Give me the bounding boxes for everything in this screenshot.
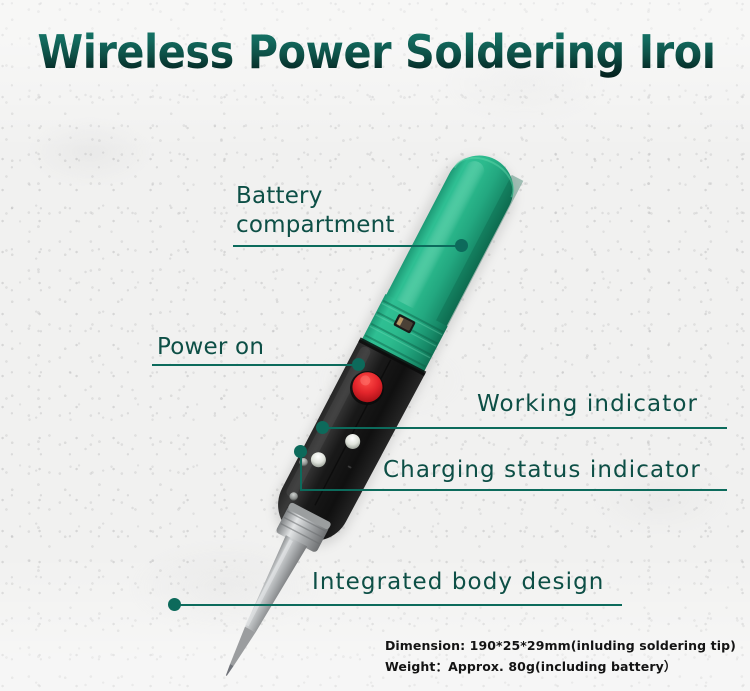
spec-dimension: Dimension: 190*25*29mm(inluding solderin… [385,635,736,656]
leader-line-working-indicator [325,427,727,429]
leader-dot-integrated-body-design [168,598,181,611]
leader-line-power-on [152,364,358,366]
product-infographic: Wireless Power Soldering Iron [0,0,750,691]
specifications-block: Dimension: 190*25*29mm(inluding solderin… [385,635,736,677]
callout-label-charging-status-indicator: Charging status indicator [383,456,701,485]
callout-label-battery-compartment: Battery compartment [236,182,395,240]
leader-line-charging-status-indicator-horizontal [300,489,727,491]
leader-dot-charging-status-indicator [294,445,307,458]
leader-dot-working-indicator [316,421,329,434]
leader-dot-power-on [352,358,365,371]
callout-label-power-on: Power on [157,333,264,362]
leader-line-integrated-body-design [175,604,622,606]
leader-dot-battery-compartment [455,239,468,252]
callout-label-integrated-body-design: Integrated body design [312,568,604,597]
callout-label-working-indicator: Working indicator [477,390,698,419]
page-title: Wireless Power Soldering Iron [38,26,713,78]
leader-line-charging-status-indicator-vertical [300,456,302,490]
spec-weight: Weight：Approx. 80g(including battery） [385,656,736,677]
leader-line-battery-compartment [233,245,461,247]
